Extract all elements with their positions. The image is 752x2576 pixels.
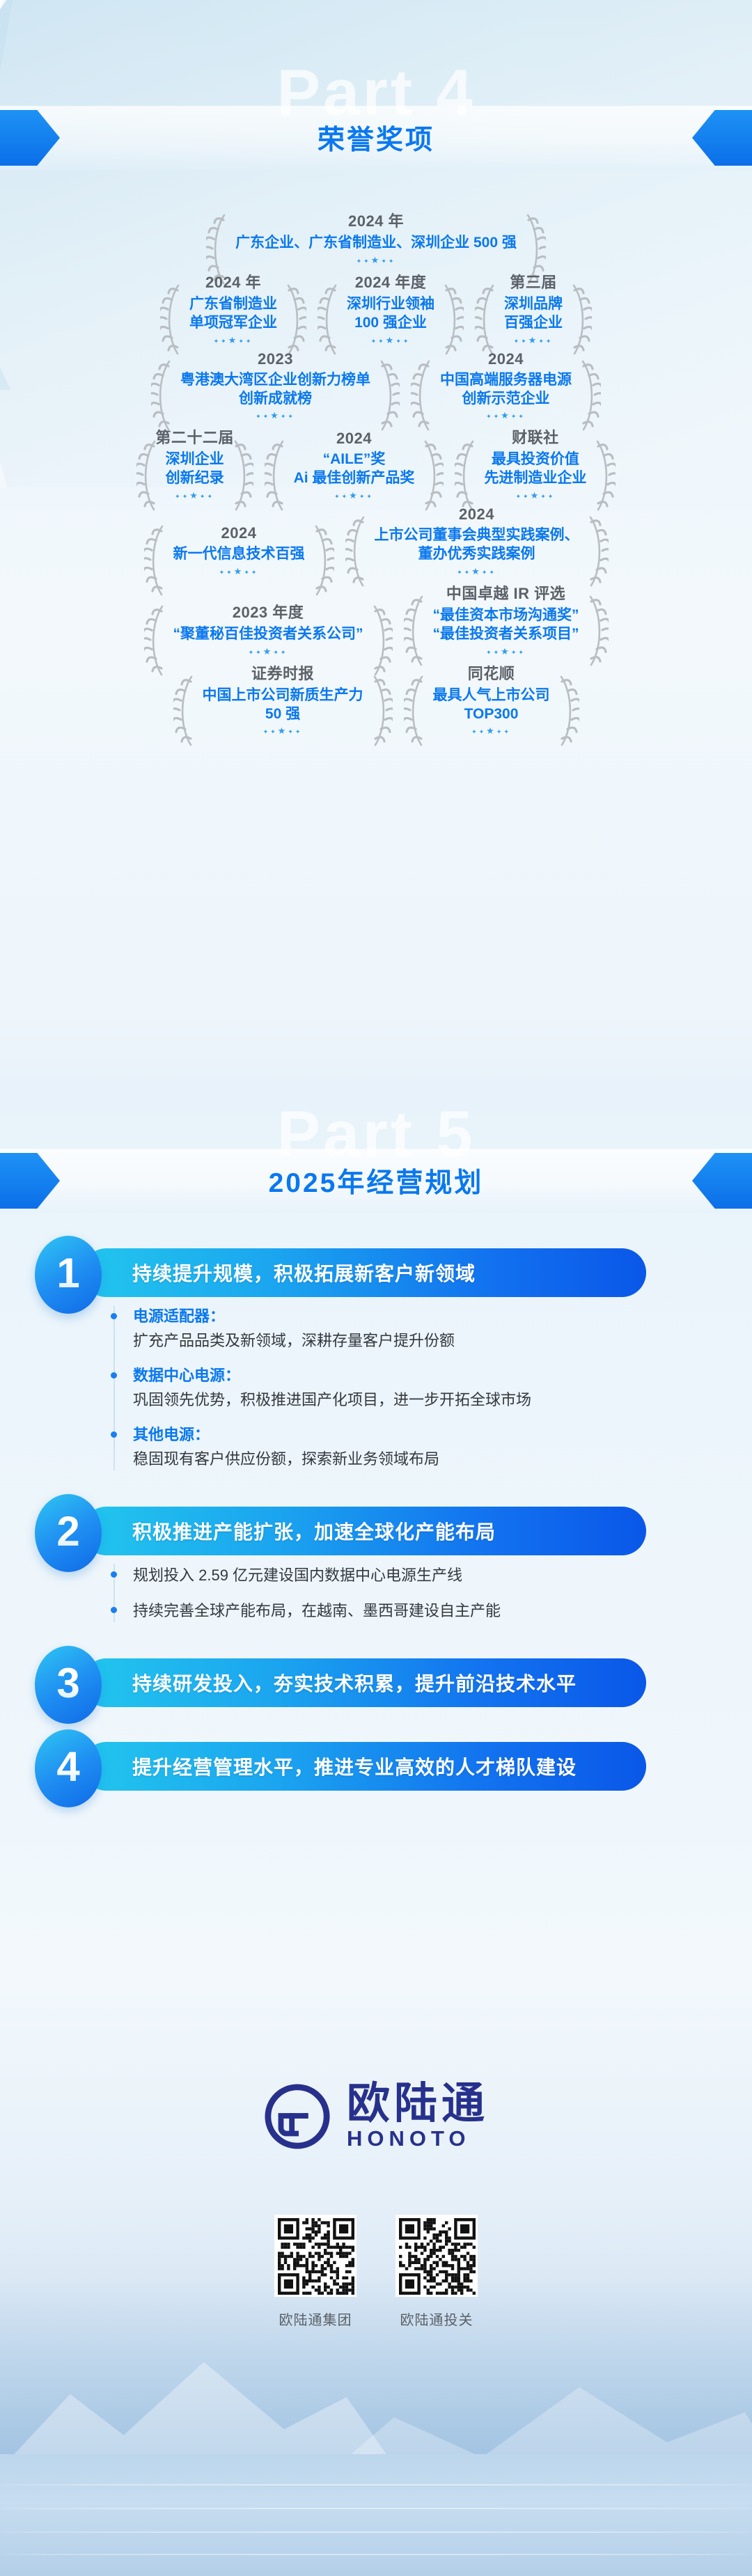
plan-title-pill[interactable]: 持续提升规模，积极拓展新客户新领域 (82, 1248, 646, 1297)
award-name-line: 粤港澳大湾区企业创新力榜单 (180, 371, 370, 390)
qr-code-row: 欧陆通集团欧陆通投关 (0, 2215, 752, 2329)
honoto-logo-icon (263, 2082, 331, 2151)
award-stars: ✦✦★✦✦ (256, 411, 295, 420)
plan-number-badge: 2 (35, 1494, 102, 1572)
logo-chinese-name: 欧陆通 (347, 2082, 489, 2126)
award-stars: ✦✦★✦✦ (486, 411, 526, 420)
award-body: 最具人气上市公司TOP300✦✦★✦✦ (404, 686, 579, 736)
award-name-line: TOP300 (464, 705, 519, 724)
plan-title: 持续研发投入，夯实技术积累，提升前沿技术水平 (132, 1669, 577, 1697)
award-body: 上市公司董事会典型实践案例、董办优秀实践案例✦✦★✦✦ (345, 526, 609, 576)
plan-number-badge: 3 (35, 1646, 102, 1724)
company-logo: 欧陆通 HONOTO (0, 2082, 752, 2151)
award-item: 证券时报中国上市公司新质生产力50 强✦✦★✦✦ (168, 661, 398, 736)
award-stars: ✦✦★✦✦ (214, 336, 253, 345)
laurel-left-icon (455, 439, 478, 512)
laurel-left-icon (318, 283, 341, 356)
award-year: 2023 (258, 350, 293, 368)
award-year: 2024 (221, 524, 257, 542)
award-stars: ✦✦★✦✦ (516, 491, 556, 500)
award-name-line: “最佳投资者关系项目” (433, 625, 579, 644)
award-item: 2024 年广东省制造业单项冠军企业✦✦★✦✦ (155, 270, 312, 345)
plan-title: 积极推进产能扩张，加速全球化产能布局 (132, 1517, 496, 1545)
award-item: 2024上市公司董事会典型实践案例、董办优秀实践案例✦✦★✦✦ (340, 505, 614, 576)
plan-bullet-text: 稳固现有客户供应份额，探索新业务领域布局 (133, 1447, 752, 1470)
laurel-left-icon (136, 439, 160, 512)
plan-bullet: 电源适配器：扩充产品品类及新领域，深耕存量客户提升份额 (133, 1305, 752, 1352)
plan-number-badge: 1 (35, 1236, 102, 1314)
award-name-line: 深圳行业领袖 (347, 295, 434, 314)
award-stars: ✦✦★✦✦ (471, 726, 511, 735)
award-name-line: 中国上市公司新质生产力 (203, 686, 363, 705)
award-year: 2024 年 (205, 270, 261, 292)
award-row: 2023粤港澳大湾区企业创新力榜单创新成就榜✦✦★✦✦2024中国高端服务器电源… (0, 350, 752, 421)
award-item: 2024“AILE”奖Ai 最佳创新产品奖✦✦★✦✦ (259, 430, 450, 500)
plan-bullet-title: 电源适配器： (133, 1305, 752, 1328)
plan-bullet-text: 巩固领先优势，积极推进国产化项目，进一步开拓全球市场 (133, 1388, 752, 1411)
award-name-line: “最佳资本市场沟通奖” (433, 606, 579, 625)
award-item: 2024 年度深圳行业领袖100 强企业✦✦★✦✦ (312, 270, 469, 345)
award-body: 深圳行业领袖100 强企业✦✦★✦✦ (318, 295, 464, 345)
award-year: 2023 年度 (233, 600, 304, 622)
award-name-line: 50 强 (265, 705, 300, 724)
laurel-left-icon (265, 439, 288, 512)
plan-bullet-text: 持续完善全球产能布局，在越南、墨西哥建设自主产能 (133, 1599, 752, 1622)
award-row: 证券时报中国上市公司新质生产力50 强✦✦★✦✦同花顺最具人气上市公司TOP30… (0, 661, 752, 736)
award-name-line: 创新成就榜 (239, 390, 312, 409)
award-body: 中国上市公司新质生产力50 强✦✦★✦✦ (173, 686, 393, 736)
award-item: 2023粤港澳大湾区企业创新力榜单创新成就榜✦✦★✦✦ (146, 350, 405, 421)
qr-code-image[interactable] (395, 2215, 478, 2297)
laurel-right-icon (592, 439, 616, 512)
plan-bullet: 持续完善全球产能布局，在越南、墨西哥建设自主产能 (133, 1599, 752, 1622)
award-name-line: 深圳企业 (166, 450, 224, 469)
plan-title: 持续提升规模，积极拓展新客户新领域 (132, 1259, 476, 1287)
laurel-left-icon (144, 524, 168, 597)
award-name-line: 深圳品牌 (504, 295, 563, 314)
award-body: 中国高端服务器电源创新示范企业✦✦★✦✦ (411, 371, 601, 421)
laurel-right-icon (577, 359, 601, 432)
laurel-right-icon (311, 524, 334, 597)
award-row: 第二十二届深圳企业创新纪录✦✦★✦✦2024“AILE”奖Ai 最佳创新产品奖✦… (0, 425, 752, 500)
laurel-left-icon (404, 675, 428, 747)
award-name-line: “AILE”奖 (323, 450, 386, 469)
laurel-right-icon (283, 283, 306, 356)
laurel-left-icon (345, 515, 369, 588)
plan-bullet-list: 规划投入 2.59 亿元建设国内数据中心电源生产线持续完善全球产能布局，在越南、… (113, 1564, 752, 1622)
award-name-line: 上市公司董事会典型实践案例、 (375, 526, 579, 545)
award-body: 新一代信息技术百强✦✦★✦✦ (144, 545, 334, 576)
laurel-left-icon (173, 675, 197, 747)
award-year: 第二十二届 (155, 425, 234, 448)
award-row: 2024 年广东省制造业单项冠军企业✦✦★✦✦2024 年度深圳行业领袖100 … (0, 270, 752, 345)
plan-item-3: 持续研发投入，夯实技术积累，提升前沿技术水平3 (0, 1646, 752, 1704)
sea-background (0, 2454, 752, 2576)
part5-banner: 2025年经营规划 (0, 1149, 752, 1213)
award-name-line: Ai 最佳创新产品奖 (294, 469, 415, 488)
award-item: 第二十二届深圳企业创新纪录✦✦★✦✦ (131, 425, 259, 500)
award-item: 2024新一代信息技术百强✦✦★✦✦ (139, 524, 340, 576)
qr-code-image[interactable] (274, 2215, 357, 2297)
award-body: 深圳企业创新纪录✦✦★✦✦ (136, 450, 253, 500)
award-item: 2024中国高端服务器电源创新示范企业✦✦★✦✦ (405, 350, 606, 421)
award-name-line: 广东企业、广东省制造业、深圳企业 500 强 (235, 234, 517, 253)
plan-bullet: 其他电源：稳固现有客户供应份额，探索新业务领域布局 (133, 1424, 752, 1470)
laurel-right-icon (420, 439, 444, 512)
award-year: 2024 年 (348, 209, 404, 231)
logo-english-name: HONOTO (347, 2127, 489, 2151)
plan-number-badge: 4 (35, 1729, 102, 1807)
qr-code-label: 欧陆通集团 (279, 2309, 352, 2329)
award-name-line: “聚董秘百佳投资者关系公司” (173, 625, 363, 644)
qr-code-label: 欧陆通投关 (400, 2309, 473, 2329)
plan-bullet-title: 数据中心电源： (133, 1365, 752, 1387)
award-name-line: 先进制造业企业 (484, 469, 586, 488)
laurel-right-icon (440, 283, 464, 356)
plan-number: 1 (56, 1252, 79, 1294)
footer: 欧陆通 HONOTO 欧陆通集团欧陆通投关 (0, 2082, 752, 2329)
award-stars: ✦✦★✦✦ (175, 491, 214, 500)
plan-item-header[interactable]: 提升经营管理水平，推进专业高效的人才梯队建设4 (0, 1729, 752, 1788)
plan-number: 2 (56, 1511, 79, 1553)
laurel-left-icon (144, 604, 168, 677)
award-name-line: 广东省制造业 (189, 295, 277, 314)
qr-code-cell: 欧陆通集团 (274, 2215, 357, 2329)
award-row: 2024 年广东企业、广东省制造业、深圳企业 500 强✦✦★✦✦ (0, 209, 752, 265)
laurel-left-icon (475, 283, 499, 356)
infographic-page: Part 4 荣誉奖项 2024 年广东企业、广东省制造业、深圳企业 500 强… (0, 0, 752, 2576)
award-year: 中国卓越 IR 评选 (446, 581, 565, 604)
plan-item-4: 提升经营管理水平，推进专业高效的人才梯队建设4 (0, 1729, 752, 1788)
award-item: 2024 年广东企业、广东省制造业、深圳企业 500 强✦✦★✦✦ (201, 209, 551, 265)
award-name-line: 最具投资价值 (492, 450, 579, 469)
part4-banner: 荣誉奖项 (0, 106, 752, 170)
award-body: “最佳资本市场沟通奖”“最佳投资者关系项目”✦✦★✦✦ (404, 606, 609, 656)
award-stars: ✦✦★✦✦ (334, 491, 374, 500)
award-item: 财联社最具投资价值先进制造业企业✦✦★✦✦ (449, 425, 621, 500)
plan-item-1: 持续提升规模，积极拓展新客户新领域1电源适配器：扩充产品品类及新领域，深耕存量客… (0, 1236, 752, 1470)
laurel-right-icon (376, 359, 400, 432)
plan-item-header[interactable]: 持续研发投入，夯实技术积累，提升前沿技术水平3 (0, 1646, 752, 1704)
award-name-line: 100 强企业 (354, 314, 427, 333)
award-year: 证券时报 (251, 661, 314, 684)
qr-code-cell: 欧陆通投关 (395, 2215, 478, 2329)
award-stars: ✦✦★✦✦ (357, 256, 396, 265)
award-item: 中国卓越 IR 评选“最佳资本市场沟通奖”“最佳投资者关系项目”✦✦★✦✦ (398, 581, 614, 656)
laurel-left-icon (151, 359, 175, 432)
laurel-right-icon (556, 675, 579, 747)
award-body: 粤港澳大湾区企业创新力榜单创新成就榜✦✦★✦✦ (151, 371, 400, 421)
plan-item-header[interactable]: 持续提升规模，积极拓展新客户新领域1 (0, 1236, 752, 1294)
award-body: 广东企业、广东省制造业、深圳企业 500 强✦✦★✦✦ (206, 234, 546, 265)
award-stars: ✦✦★✦✦ (249, 647, 288, 656)
award-name-line: 中国高端服务器电源 (440, 371, 572, 390)
award-year: 第三届 (510, 270, 557, 292)
part5-title: 2025年经营规划 (269, 1161, 484, 1200)
plan-bullet-list: 电源适配器：扩充产品品类及新领域，深耕存量客户提升份额数据中心电源：巩固领先优势… (113, 1305, 752, 1470)
award-name-line: 董办优秀实践案例 (418, 545, 535, 564)
award-name-line: 最具人气上市公司 (433, 686, 550, 705)
plan-list: 持续提升规模，积极拓展新客户新领域1电源适配器：扩充产品品类及新领域，深耕存量客… (0, 1236, 752, 1813)
award-year: 2024 (336, 430, 372, 448)
plan-title-pill[interactable]: 提升经营管理水平，推进专业高效的人才梯队建设 (82, 1742, 646, 1791)
award-stars: ✦✦★✦✦ (457, 567, 496, 576)
plan-item-header[interactable]: 积极推进产能扩张，加速全球化产能布局2 (0, 1494, 752, 1553)
laurel-right-icon (585, 515, 609, 588)
award-name-line: 百强企业 (504, 314, 563, 333)
award-stars: ✦✦★✦✦ (371, 336, 411, 345)
award-year: 2024 (459, 505, 494, 524)
plan-title-pill[interactable]: 积极推进产能扩张，加速全球化产能布局 (82, 1507, 646, 1555)
laurel-left-icon (160, 283, 184, 356)
award-stars: ✦✦★✦✦ (263, 726, 303, 735)
plan-title-pill[interactable]: 持续研发投入，夯实技术积累，提升前沿技术水平 (82, 1658, 646, 1707)
plan-bullet-text: 规划投入 2.59 亿元建设国内数据中心电源生产线 (133, 1564, 752, 1587)
awards-list: 2024 年广东企业、广东省制造业、深圳企业 500 强✦✦★✦✦2024 年广… (0, 209, 752, 741)
award-item: 2023 年度“聚董秘百佳投资者关系公司”✦✦★✦✦ (139, 600, 398, 656)
laurel-right-icon (230, 439, 253, 512)
award-year: 同花顺 (468, 661, 515, 684)
plan-title: 提升经营管理水平，推进专业高效的人才梯队建设 (132, 1752, 577, 1780)
award-body: “AILE”奖Ai 最佳创新产品奖✦✦★✦✦ (265, 450, 444, 500)
award-name-line: 单项冠军企业 (189, 314, 277, 333)
award-name-line: 新一代信息技术百强 (173, 545, 305, 564)
award-body: “聚董秘百佳投资者关系公司”✦✦★✦✦ (144, 625, 393, 656)
laurel-left-icon (404, 595, 428, 667)
award-row: 2024新一代信息技术百强✦✦★✦✦2024上市公司董事会典型实践案例、董办优秀… (0, 505, 752, 576)
award-item: 第三届深圳品牌百强企业✦✦★✦✦ (469, 270, 597, 345)
award-body: 最具投资价值先进制造业企业✦✦★✦✦ (455, 450, 616, 500)
award-year: 2024 (488, 350, 524, 368)
award-name-line: 创新示范企业 (462, 390, 550, 409)
plan-item-2: 积极推进产能扩张，加速全球化产能布局2规划投入 2.59 亿元建设国内数据中心电… (0, 1494, 752, 1622)
award-year: 2024 年度 (355, 270, 427, 292)
award-year: 财联社 (512, 425, 559, 448)
award-body: 深圳品牌百强企业✦✦★✦✦ (475, 295, 592, 345)
plan-bullet-title: 其他电源： (133, 1424, 752, 1446)
award-row: 2023 年度“聚董秘百佳投资者关系公司”✦✦★✦✦中国卓越 IR 评选“最佳资… (0, 581, 752, 656)
laurel-left-icon (411, 359, 434, 432)
plan-number: 3 (56, 1663, 79, 1704)
laurel-right-icon (369, 675, 393, 747)
award-name-line: 创新纪录 (166, 469, 224, 488)
award-stars: ✦✦★✦✦ (514, 336, 554, 345)
award-stars: ✦✦★✦✦ (486, 647, 526, 656)
part4-title: 荣誉奖项 (318, 118, 434, 157)
award-stars: ✦✦★✦✦ (219, 567, 259, 576)
award-body: 广东省制造业单项冠军企业✦✦★✦✦ (160, 295, 306, 345)
plan-number: 4 (56, 1746, 79, 1788)
laurel-right-icon (585, 595, 609, 667)
plan-bullet: 规划投入 2.59 亿元建设国内数据中心电源生产线 (133, 1564, 752, 1587)
laurel-right-icon (568, 283, 592, 356)
plan-bullet-text: 扩充产品品类及新领域，深耕存量客户提升份额 (133, 1329, 752, 1352)
plan-bullet: 数据中心电源：巩固领先优势，积极推进国产化项目，进一步开拓全球市场 (133, 1365, 752, 1411)
award-item: 同花顺最具人气上市公司TOP300✦✦★✦✦ (398, 661, 585, 736)
